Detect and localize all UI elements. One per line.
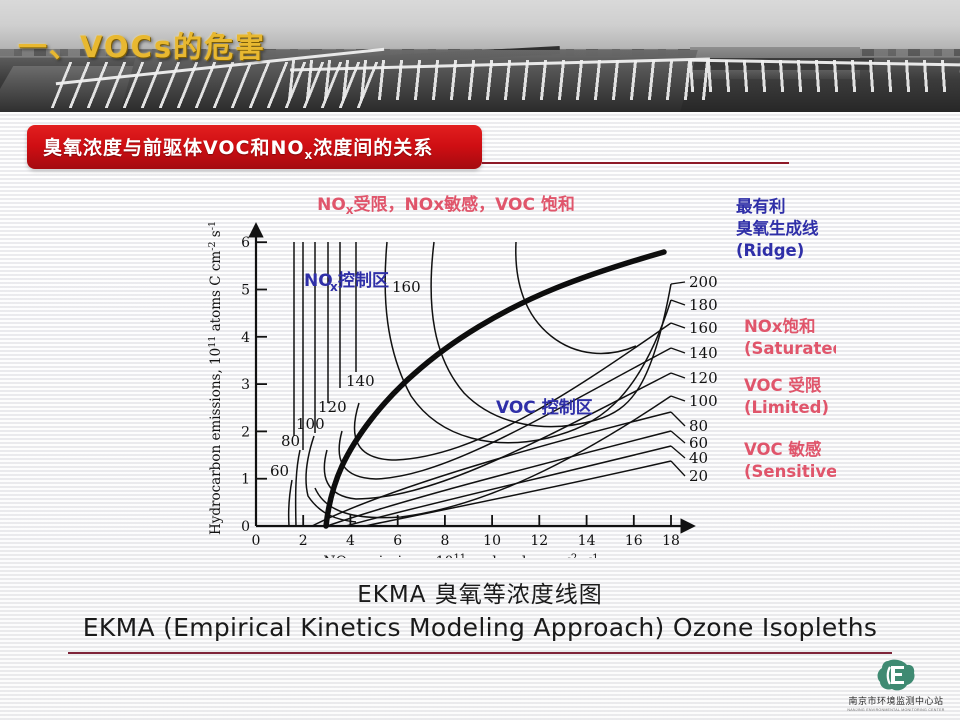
annotation-voc-limited-en: (Limited) [744,398,829,417]
isopleth-leader-ticks [671,282,685,476]
isopleth-60-left [289,480,292,526]
svg-text:4: 4 [241,330,250,346]
banner-text-subscript: x [305,147,314,161]
logo-name-english: NANJING ENVIRONMENTAL MONITORING CENTER [847,708,944,712]
svg-text:1: 1 [241,472,250,488]
y-axis-tick-labels: 0 1 2 3 4 5 6 [241,235,250,535]
annotation-nox-control-zone: NO [304,271,333,291]
x-axis-tick-labels: 0 2 4 6 8 10 12 14 16 18 [252,533,680,549]
svg-text:5: 5 [241,283,250,299]
isopleth-label-100: 100 [296,415,325,433]
ekma-chart: 0 1 2 3 4 5 6 0 [196,188,836,558]
page-title: 一、VOCs的危害 [18,24,266,66]
y-axis-title: Hydrocarbon emissions, 1011 atoms C cm-2… [207,221,224,535]
annotation-voc-sensitive-cn: VOC 敏感 [744,439,822,459]
ekma-chart-svg: 0 1 2 3 4 5 6 0 [196,188,836,558]
annotation-nox-control-zone-sub: x [330,280,338,294]
svg-text:6: 6 [393,533,402,549]
annotation-nox-saturated-en: (Saturated) [744,339,836,358]
svg-text:12: 12 [530,533,548,549]
svg-text:0: 0 [252,533,261,549]
annotation-ridge-line3: (Ridge) [736,241,804,260]
isopleth-right-140: 140 [689,344,718,362]
annotation-ridge-line2: 臭氧生成线 [736,218,819,238]
figure-caption-english: EKMA (Empirical Kinetics Modeling Approa… [0,610,960,646]
isopleth-label-120: 120 [318,398,347,416]
isopleth-right-120: 120 [689,369,718,387]
isopleth-160 [354,323,671,460]
annotation-voc-sensitive-en: (Sensitive) [744,462,836,481]
svg-text:16: 16 [625,533,643,549]
svg-text:4: 4 [346,533,355,549]
banner-text-tail: 浓度间的关系 [313,137,433,159]
caption-rule [68,652,892,654]
isopleth-right-180: 180 [689,296,718,314]
annotation-voc-control-zone: VOC 控制区 [496,397,593,418]
svg-text:2: 2 [299,533,308,549]
svg-text:10: 10 [483,533,501,549]
isopleth-label-60: 60 [270,462,289,480]
isopleth-label-160-top: 160 [392,278,421,296]
isopleth-right-160: 160 [689,319,718,337]
annotation-ridge-line1: 最有利 [736,196,786,216]
svg-text:2: 2 [241,424,250,440]
svg-text:14: 14 [578,533,596,549]
isopleth-label-80: 80 [281,432,300,450]
banner-text-main: 臭氧浓度与前驱体VOC和NO [43,137,305,159]
isopleth-right-80: 80 [689,417,708,435]
annotation-ridge-block: 最有利 臭氧生成线 (Ridge) [736,196,819,260]
annotation-voc-limited-cn: VOC 受限 [744,375,822,395]
figure-caption-chinese: EKMA 臭氧等浓度线图 [0,580,960,610]
slide-canvas: 一、VOCs的危害 臭氧浓度与前驱体VOC和NOx浓度间的关系 [0,0,960,720]
isopleth-right-20: 20 [689,467,708,485]
isopleth-right-200: 200 [689,273,718,291]
ridge-line [326,252,664,526]
section-banner-rule [482,162,789,164]
logo-name-chinese: 南京市环境监测中心站 [848,694,943,707]
svg-text:8: 8 [440,533,449,549]
svg-text:6: 6 [241,235,250,251]
annotation-top-regimes: NOx受限，NOx敏感，VOC 饱和 [317,194,575,217]
annotation-regime-block: NOx饱和 (Saturated) VOC 受限 (Limited) VOC 敏… [744,316,836,481]
x-axis-title: NOx emissions, 1011 molecules cm-2 s-1 [323,553,598,558]
section-banner-pill: 臭氧浓度与前驱体VOC和NOx浓度间的关系 [27,125,482,169]
isopleth-120 [324,373,671,499]
isopleth-label-140: 140 [346,372,375,390]
leaf-emblem-icon [876,658,916,692]
y-axis-ticks [256,242,267,526]
isopleth-labels-right: 200 180 160 140 120 100 80 60 40 20 [689,273,718,485]
section-banner-label: 臭氧浓度与前驱体VOC和NOx浓度间的关系 [27,133,433,162]
isopleth-right-40: 40 [689,449,708,467]
svg-text:3: 3 [241,377,250,393]
x-axis-ticks [256,515,671,526]
svg-text:0: 0 [241,519,250,535]
section-banner: 臭氧浓度与前驱体VOC和NOx浓度间的关系 [0,125,960,181]
isopleth-right-100: 100 [689,392,718,410]
organization-logo: 南京市环境监测中心站 NANJING ENVIRONMENTAL MONITOR… [844,650,948,712]
annotation-nox-saturated-cn: NOx饱和 [744,316,815,336]
isopleth-labels-interior: 60 80 100 120 140 160 [270,278,421,480]
annotation-nox-control-zone-cn: 控制区 [338,270,389,291]
figure-caption: EKMA 臭氧等浓度线图 EKMA (Empirical Kinetics Mo… [0,580,960,646]
svg-text:18: 18 [662,533,680,549]
